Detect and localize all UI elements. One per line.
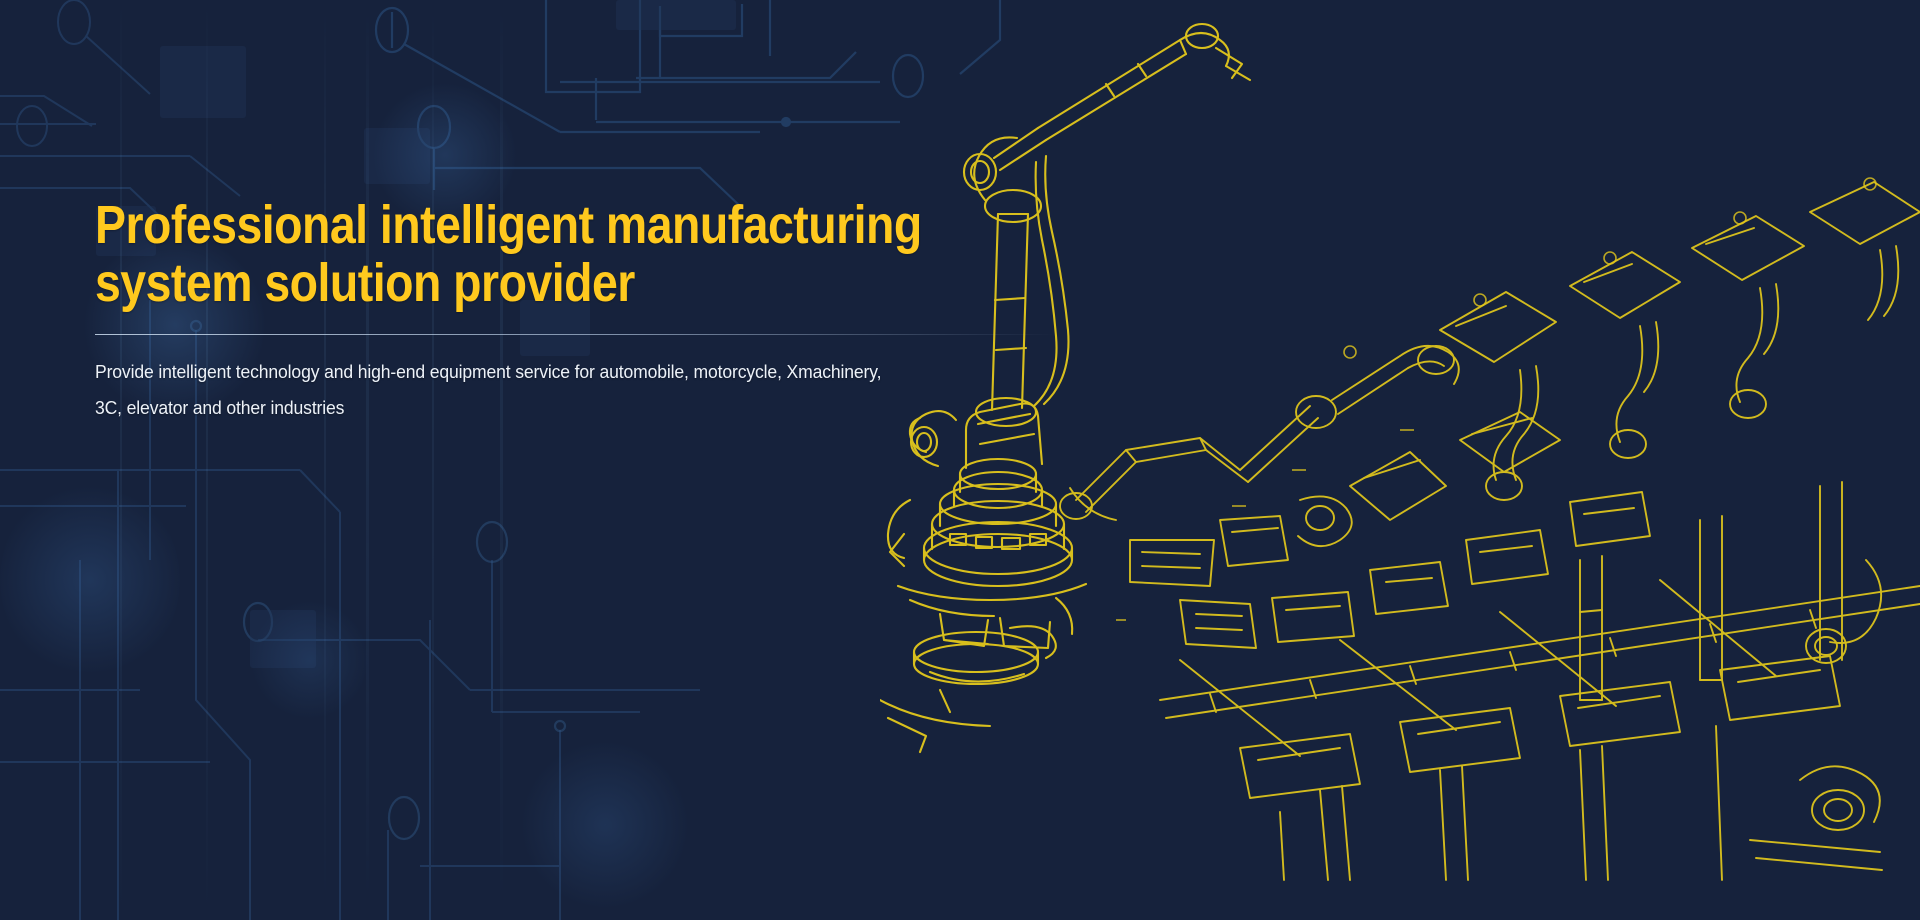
title-divider	[95, 334, 1055, 335]
glow-blob	[0, 480, 180, 680]
glow-blob	[520, 740, 690, 910]
hero-banner: Professional intelligent manufacturing s…	[0, 0, 1920, 920]
robot-arm-illustration	[880, 0, 1920, 920]
circuit-board-pattern	[0, 0, 1920, 920]
hero-content: Professional intelligent manufacturing s…	[95, 196, 1095, 426]
light-streaks	[0, 0, 1920, 920]
page-title: Professional intelligent manufacturing s…	[95, 196, 955, 312]
glow-blob	[250, 600, 370, 720]
hero-subtitle: Provide intelligent technology and high-…	[95, 354, 893, 426]
